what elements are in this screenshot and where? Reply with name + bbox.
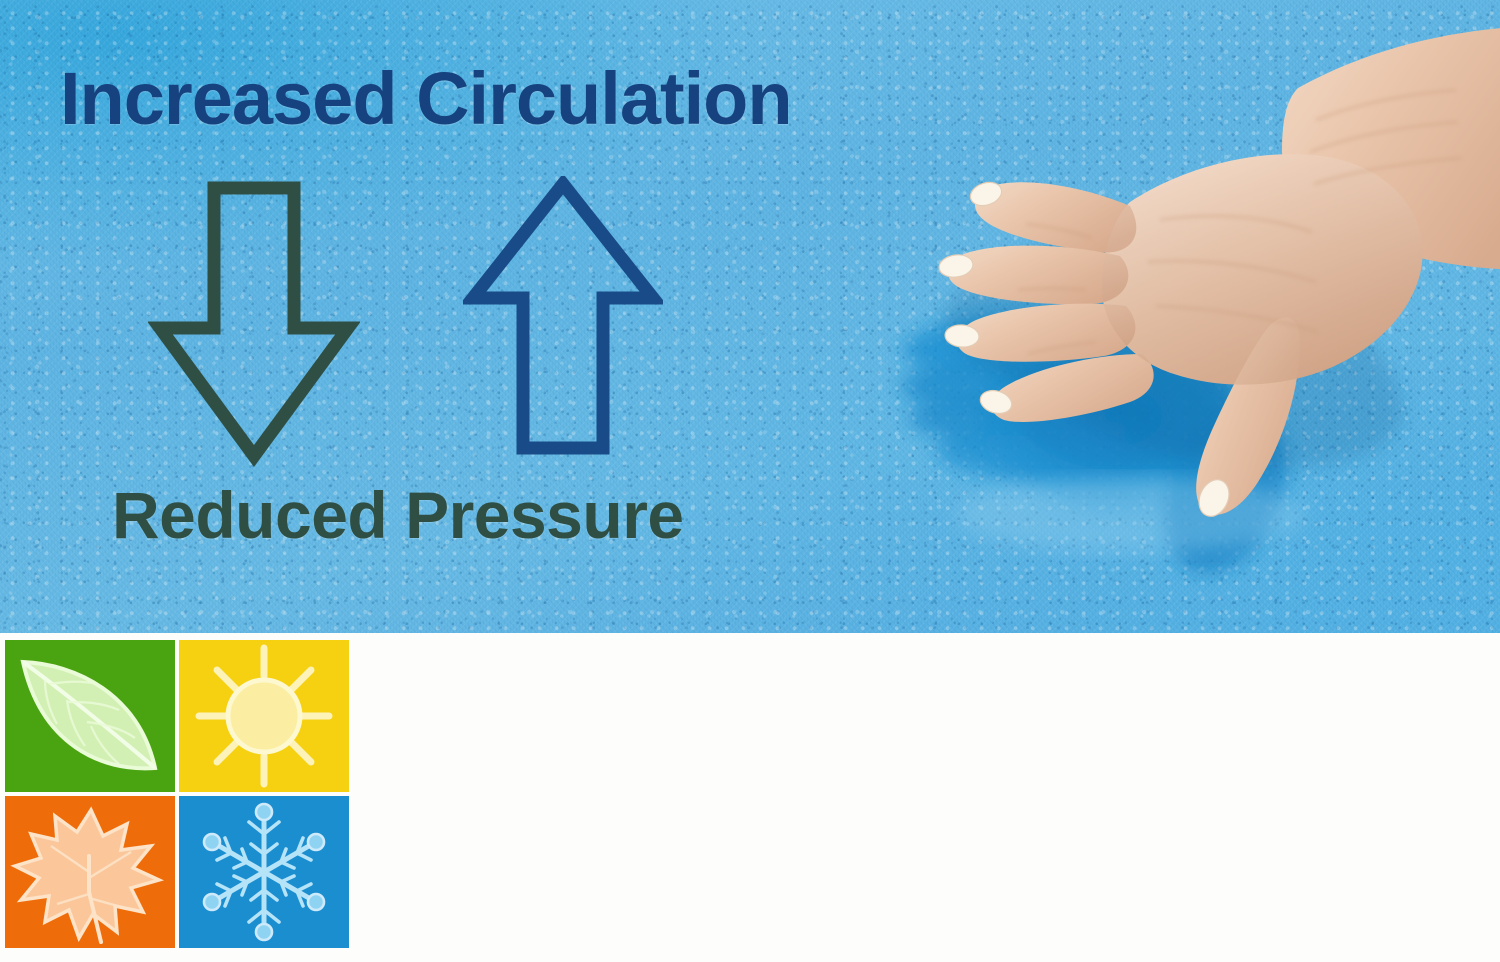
maple-leaf-icon (5, 796, 175, 948)
snowflake-icon (179, 796, 349, 948)
memory-foam-photo: Increased Circulation Reduced Pressure (0, 0, 1500, 633)
up-arrow-icon (463, 176, 663, 456)
down-arrow-icon (148, 178, 360, 468)
increased-circulation-label: Increased Circulation (60, 56, 792, 141)
sun-icon (179, 640, 349, 792)
four-seasons-icon-grid (5, 640, 349, 955)
product-graphic: Increased Circulation Reduced Pressure (0, 0, 1500, 962)
reduced-pressure-label: Reduced Pressure (112, 477, 684, 553)
leaf-icon (5, 640, 175, 792)
hand-pressing-foam (830, 0, 1500, 633)
feature-caption-panel: 100% GEL-Infused Memory Foam with Temper… (0, 633, 1500, 962)
